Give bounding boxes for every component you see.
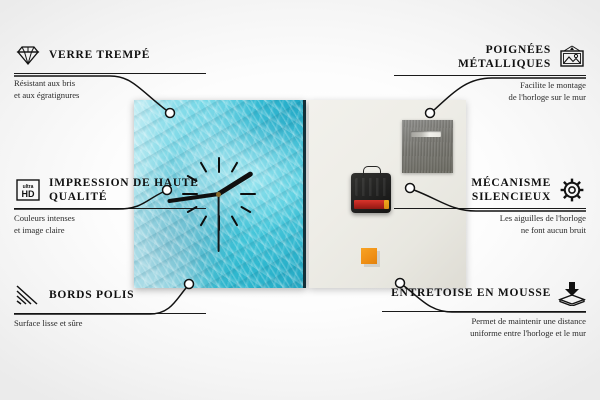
feature-mecanisme-silencieux: MÉCANISME SILENCIEUX Les aiguilles de l'… bbox=[394, 175, 586, 236]
mechanism-housing-detail bbox=[355, 178, 387, 196]
battery-terminal bbox=[384, 200, 389, 209]
clock-dial bbox=[134, 100, 303, 288]
feature-title: VERRE TREMPÉ bbox=[49, 48, 150, 62]
feature-description: Surface lisse et sûre bbox=[14, 318, 206, 330]
feature-header: POIGNÉES MÉTALLIQUES bbox=[394, 42, 586, 72]
feature-poignees-metalliques: POIGNÉES MÉTALLIQUES Facilite le montage… bbox=[394, 42, 586, 103]
clock-hour-hand bbox=[217, 171, 254, 196]
feature-header: ENTRETOISE EN MOUSSE bbox=[382, 278, 586, 308]
feature-header: MÉCANISME SILENCIEUX bbox=[394, 175, 586, 205]
feature-divider bbox=[14, 313, 206, 314]
hanger-slot bbox=[411, 131, 441, 137]
feature-description: Les aiguilles de l'horloge ne font aucun… bbox=[394, 213, 586, 236]
picture-frame-hanger-icon bbox=[558, 43, 586, 71]
gear-icon bbox=[558, 176, 586, 204]
feature-verre-trempe: VERRE TREMPÉ Résistant aux bris et aux é… bbox=[14, 40, 206, 101]
feature-title: BORDS POLIS bbox=[49, 288, 134, 302]
foam-spacer bbox=[361, 248, 377, 264]
feature-description: Résistant aux bris et aux égratignures bbox=[14, 78, 206, 101]
foam-spacer-icon bbox=[558, 279, 586, 307]
clock-face-panel bbox=[134, 100, 306, 288]
feature-title: ENTRETOISE EN MOUSSE bbox=[391, 286, 551, 300]
clock-center-cap bbox=[216, 192, 221, 197]
battery bbox=[354, 200, 385, 209]
feature-title: POIGNÉES MÉTALLIQUES bbox=[394, 43, 551, 71]
ultra-hd-icon: ultra HD bbox=[14, 176, 42, 204]
diamond-icon bbox=[14, 41, 42, 69]
feature-title: MÉCANISME SILENCIEUX bbox=[394, 176, 551, 204]
feature-divider bbox=[14, 73, 206, 74]
metal-hanger-plate bbox=[402, 120, 453, 173]
clock-second-hand bbox=[218, 194, 220, 252]
polished-edge-icon bbox=[14, 281, 42, 309]
clock-minute-hand bbox=[167, 192, 219, 203]
feature-description: Facilite le montage de l'horloge sur le … bbox=[394, 80, 586, 103]
feature-entretoise-en-mousse: ENTRETOISE EN MOUSSE Permet de maintenir… bbox=[382, 278, 586, 339]
feature-divider bbox=[394, 208, 586, 209]
feature-header: VERRE TREMPÉ bbox=[14, 40, 206, 70]
mechanism-hanging-loop bbox=[363, 166, 381, 176]
feature-divider bbox=[382, 311, 586, 312]
infographic-canvas: VERRE TREMPÉ Résistant aux bris et aux é… bbox=[0, 0, 600, 400]
clock-mechanism bbox=[351, 173, 391, 213]
feature-description: Permet de maintenir une distance uniform… bbox=[382, 316, 586, 339]
svg-text:HD: HD bbox=[22, 189, 35, 199]
feature-divider bbox=[394, 75, 586, 76]
